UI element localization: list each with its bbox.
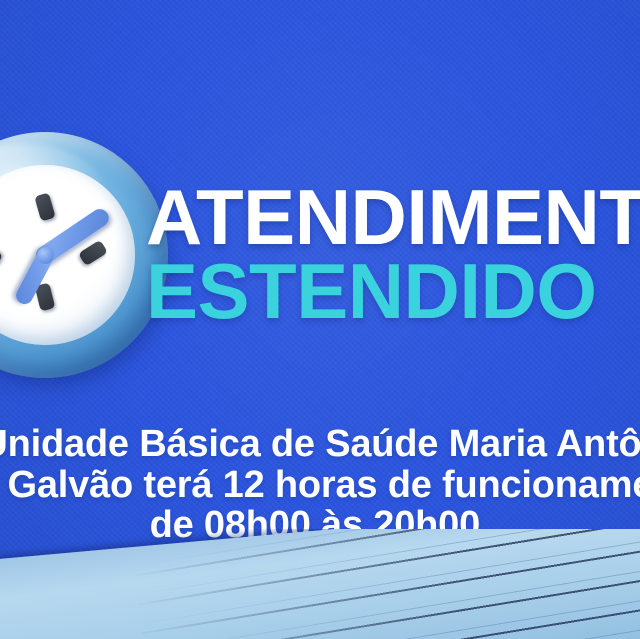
body-copy-block: A Unidade Básica de Saúde Maria Antônia … [0,424,640,546]
clock-tick-9-icon [0,242,3,267]
headline-block: ATENDIMENTO ESTENDIDO [146,182,640,328]
headline-primary: ATENDIMENTO [146,182,640,254]
clock-center-pin [37,247,54,264]
clock-tick-12-icon [34,192,56,221]
body-line-1: A Unidade Básica de Saúde Maria Antônia [0,424,640,465]
headline-secondary: ESTENDIDO [146,256,640,328]
clock-tick-3-icon [78,240,108,266]
bottom-ribbon-graphic [0,529,640,639]
body-line-2: Frei Galvão terá 12 horas de funcionamen… [0,465,640,506]
poster-canvas: ATENDIMENTO ESTENDIDO A Unidade Básica d… [0,0,640,639]
clock-icon [0,132,168,378]
ribbon-stripe-lines [133,529,640,639]
